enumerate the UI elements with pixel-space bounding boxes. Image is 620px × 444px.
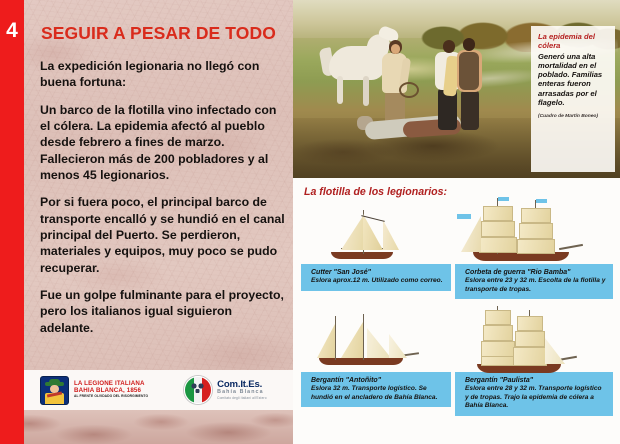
square-sail [513,347,547,366]
paragraph-2: Un barco de la flotilla vino infectado c… [40,102,288,184]
epidemic-caption-body: Generó una alta mortalidad en el poblado… [538,52,608,108]
right-column: La epidemia del cólera Generó una alta m… [293,0,620,444]
square-sail [485,310,511,325]
fore-sail [317,324,335,358]
square-sail [517,316,543,331]
epidemic-caption-box: La epidemia del cólera Generó una alta m… [531,26,615,172]
ship-card-paulista: Bergantín "Paulista" Eslora entre 28 y 3… [455,304,613,416]
ship-card-corbeta: Corbeta de guerra "Rio Bamba" Eslora ent… [455,194,613,299]
ship-description: Eslora entre 23 y 32 m. Escolta de la fl… [465,277,607,294]
square-sail [483,325,513,341]
jib-sail [545,338,565,364]
main-sail [341,322,363,358]
slide-page: 4 SEGUIR A PESAR DE TODO La expedición l… [0,0,620,444]
ship-name: Corbeta de guerra "Rio Bamba" [465,268,607,277]
square-sail [483,206,513,221]
hull [319,358,403,365]
epidemic-caption-credit: (Cuadro de Martín Boneo) [538,114,608,120]
logo-strip: LA LEGIONE ITALIANA BAHIA BLANCA, 1856 A… [24,370,293,410]
comites-logo-line3: Comitato degli Italiani all'Estero [217,397,266,400]
ship-illustration-cutter [301,202,451,264]
ship-name: Bergantín "Antoñito" [311,376,445,385]
legione-logo-line3: AL FRENTE OLVIDADO DEL RISORGIMENTO [74,395,148,398]
paragraph-3: Por si fuera poco, el principal barco de… [40,194,288,276]
ship-card-antonito: Bergantín "Antoñito" Eslora 32 m. Transp… [301,310,451,407]
bottom-texture-band [0,410,293,444]
ship-caption-corbeta: Corbeta de guerra "Rio Bamba" Eslora ent… [455,264,613,299]
horse-leg [363,76,369,106]
jib-sail [383,220,399,250]
italian-flag-roundel-icon [184,376,212,404]
square-sail [517,239,555,254]
epidemic-caption-title: La epidemia del cólera [538,32,608,51]
ship-illustration-antonito [301,310,451,372]
ship-caption-cutter: Cutter "San José" Eslora aprox.12 m. Uti… [301,264,451,291]
ship-card-cutter: Cutter "San José" Eslora aprox.12 m. Uti… [301,202,451,291]
aft-sail [389,334,407,358]
square-sail [519,223,553,239]
left-text-panel: 4 SEGUIR A PESAR DE TODO La expedición l… [0,0,293,444]
jib-sail [341,216,363,250]
flotilla-heading: La flotilla de los legionarios: [304,186,447,198]
square-sail [515,331,545,347]
figure-face [391,44,400,54]
paragraph-4: Fue un golpe fulminante para el proyecto… [40,287,288,336]
bowsprit [559,244,583,250]
figure-head [463,38,475,51]
square-sail [481,341,515,357]
hat-icon [399,82,419,98]
mast [335,316,336,360]
flag-icon [536,199,547,203]
ship-name: Cutter "San José" [311,268,445,277]
square-sail [481,221,515,237]
ship-description: Eslora aprox.12 m. Utilizado como correo… [311,277,445,286]
cholera-painting: La epidemia del cólera Generó una alta m… [293,0,620,178]
ship-description: Eslora 32 m. Transporte logístico. Se hu… [311,385,445,402]
flotilla-section: La flotilla de los legionarios: Cutter "… [293,178,620,444]
square-sail [521,208,551,223]
square-sail [481,356,515,366]
legione-italiana-logo: LA LEGIONE ITALIANA BAHIA BLANCA, 1856 A… [40,376,148,405]
slide-number-badge: 4 [0,20,24,41]
ship-description: Eslora entre 28 y 32 m. Transporte logís… [465,385,607,411]
ship-illustration-corbeta [455,194,613,264]
left-red-bar [0,0,24,444]
ship-caption-antonito: Bergantín "Antoñito" Eslora 32 m. Transp… [301,372,451,407]
aft-sail [367,328,391,358]
legionnaire-figure-icon [40,376,69,405]
comites-logo: Com.It.Es. Bahía Blanca Comitato degli I… [184,376,266,404]
page-title: SEGUIR A PESAR DE TODO [41,24,281,42]
ship-caption-paulista: Bergantín "Paulista" Eslora entre 28 y 3… [455,372,613,416]
figure-legs [461,90,479,130]
jib-sail [461,216,481,252]
paragraph-1: La expedición legionaria no llegó con bu… [40,58,288,91]
mast [363,314,364,360]
flag-icon [457,214,471,219]
flag-icon [498,197,509,201]
figure-head [443,40,455,53]
comites-logo-line2: Bahía Blanca [217,390,266,395]
horse-leg [337,76,343,104]
body-text: La expedición legionaria no llegó con bu… [40,58,288,336]
square-sail [479,237,517,253]
ship-name: Bergantín "Paulista" [465,376,607,385]
hull [331,252,393,259]
figure-vest [459,52,479,90]
ship-illustration-paulista [455,304,613,372]
